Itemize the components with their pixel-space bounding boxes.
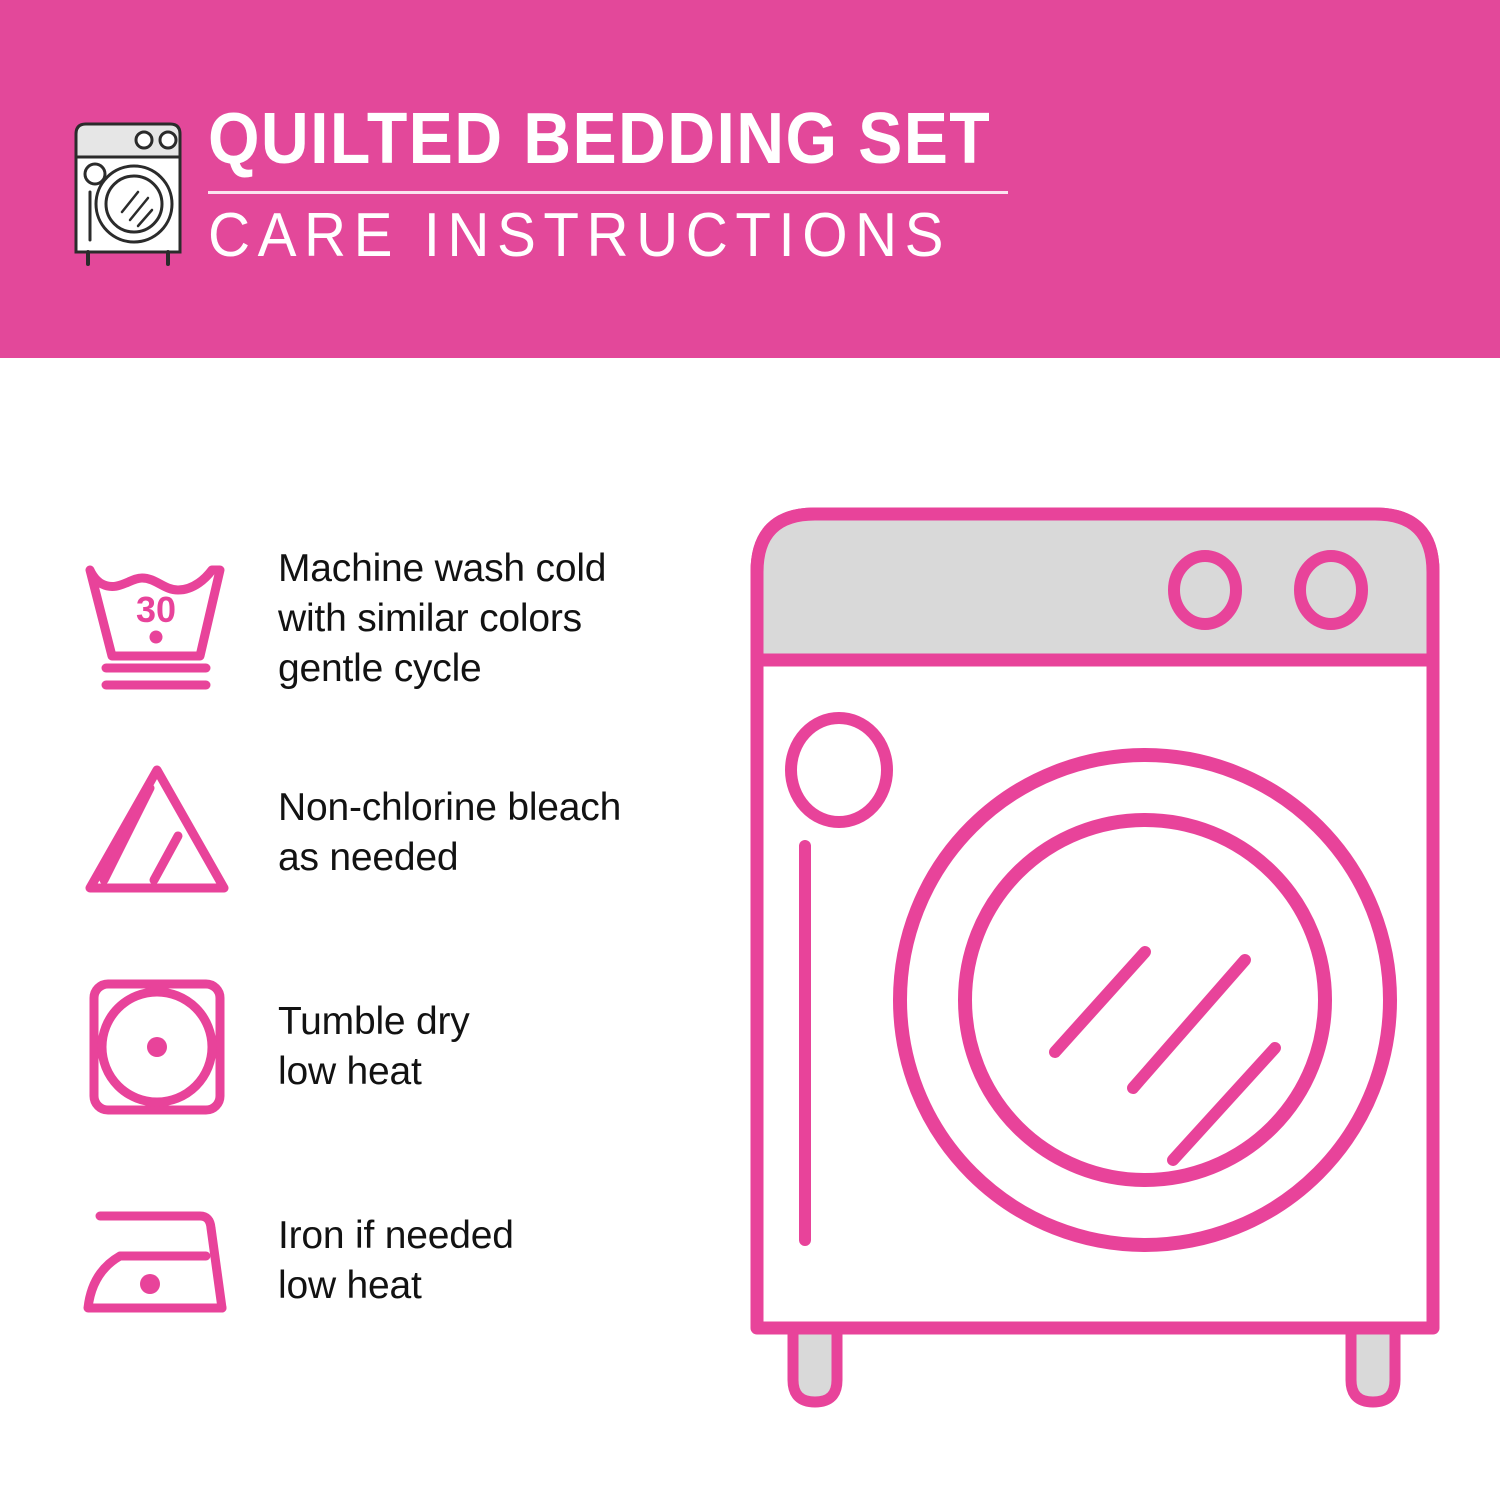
wash-tub-30-icon: 30: [72, 534, 242, 704]
header-content: QUILTED BEDDING SET CARE INSTRUCTIONS: [68, 104, 1059, 267]
care-label-machine-wash: Machine wash cold with similar colors ge…: [278, 544, 606, 694]
care-label-bleach: Non-chlorine bleach as needed: [278, 783, 621, 883]
care-row-tumble-dry: Tumble dry low heat: [72, 940, 712, 1154]
iron-icon: [72, 1176, 242, 1346]
bleach-triangle-icon: [72, 748, 242, 918]
page-title: QUILTED BEDDING SET: [208, 104, 991, 175]
care-row-machine-wash: 30 Machine wash cold with similar colors…: [72, 512, 712, 726]
care-label-iron: Iron if needed low heat: [278, 1211, 514, 1311]
header-band: QUILTED BEDDING SET CARE INSTRUCTIONS: [0, 0, 1500, 358]
care-label-tumble-dry: Tumble dry low heat: [278, 997, 470, 1097]
washing-machine-illustration: [745, 500, 1445, 1440]
washing-machine-logo-icon: [68, 112, 188, 267]
tumble-dry-icon: [72, 962, 242, 1132]
header-text-block: QUILTED BEDDING SET CARE INSTRUCTIONS: [208, 104, 1059, 267]
care-row-bleach: Non-chlorine bleach as needed: [72, 726, 712, 940]
care-row-iron: Iron if needed low heat: [72, 1154, 712, 1368]
page-subtitle: CARE INSTRUCTIONS: [208, 204, 1008, 267]
svg-text:30: 30: [136, 589, 176, 630]
title-divider: [208, 191, 1008, 194]
care-instruction-list: 30 Machine wash cold with similar colors…: [72, 512, 712, 1368]
